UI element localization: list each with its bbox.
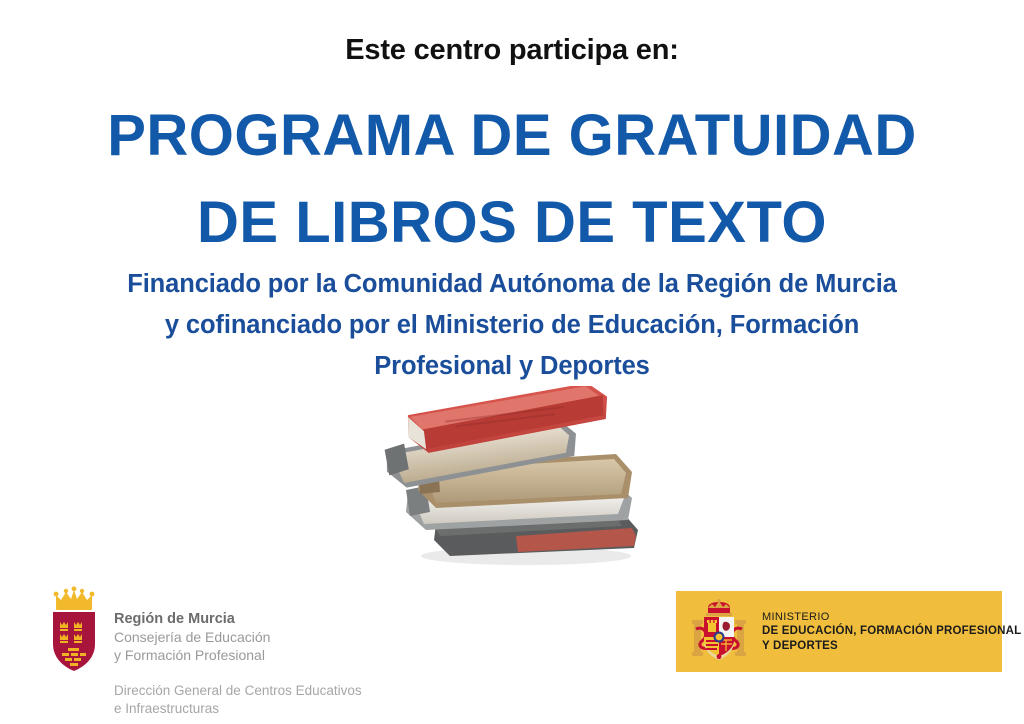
kicker-text: Este centro participa en: bbox=[0, 34, 1024, 67]
page-title: PROGRAMA DE GRATUIDAD DE LIBROS DE TEXTO bbox=[0, 92, 1024, 266]
stack-of-books-icon bbox=[366, 386, 666, 566]
subtitle-line-2: y cofinanciado por el Ministerio de Educ… bbox=[0, 305, 1024, 346]
murcia-subunit-line-1: Dirección General de Centros Educativos bbox=[114, 682, 362, 700]
murcia-dept-line-2: y Formación Profesional bbox=[114, 646, 362, 664]
ministerio-line-1: MINISTERIO bbox=[762, 610, 1021, 624]
subtitle-line-3: Profesional y Deportes bbox=[0, 346, 1024, 387]
spain-coat-of-arms-icon bbox=[690, 599, 748, 665]
funding-subtitle: Financiado por la Comunidad Autónoma de … bbox=[0, 264, 1024, 387]
logo-ministerio-educacion: MINISTERIO DE EDUCACIÓN, FORMACIÓN PROFE… bbox=[676, 591, 1002, 672]
books-illustration bbox=[366, 386, 666, 566]
title-line-2: DE LIBROS DE TEXTO bbox=[0, 179, 1024, 266]
murcia-text-block: Región de Murcia Consejería de Educación… bbox=[114, 586, 362, 718]
poster-canvas: Este centro participa en: PROGRAMA DE GR… bbox=[0, 0, 1024, 724]
title-line-1: PROGRAMA DE GRATUIDAD bbox=[0, 92, 1024, 179]
murcia-subunit-line-2: e Infraestructuras bbox=[114, 700, 362, 718]
murcia-org-name: Región de Murcia bbox=[114, 610, 362, 628]
murcia-dept-line-1: Consejería de Educación bbox=[114, 628, 362, 646]
ministerio-line-2: DE EDUCACIÓN, FORMACIÓN PROFESIONAL bbox=[762, 624, 1021, 639]
ministerio-line-3: Y DEPORTES bbox=[762, 639, 1021, 654]
ministerio-text-block: MINISTERIO DE EDUCACIÓN, FORMACIÓN PROFE… bbox=[762, 610, 1021, 654]
subtitle-line-1: Financiado por la Comunidad Autónoma de … bbox=[0, 264, 1024, 305]
logo-region-de-murcia: Región de Murcia Consejería de Educación… bbox=[46, 586, 362, 718]
murcia-coat-of-arms-icon bbox=[46, 586, 102, 674]
